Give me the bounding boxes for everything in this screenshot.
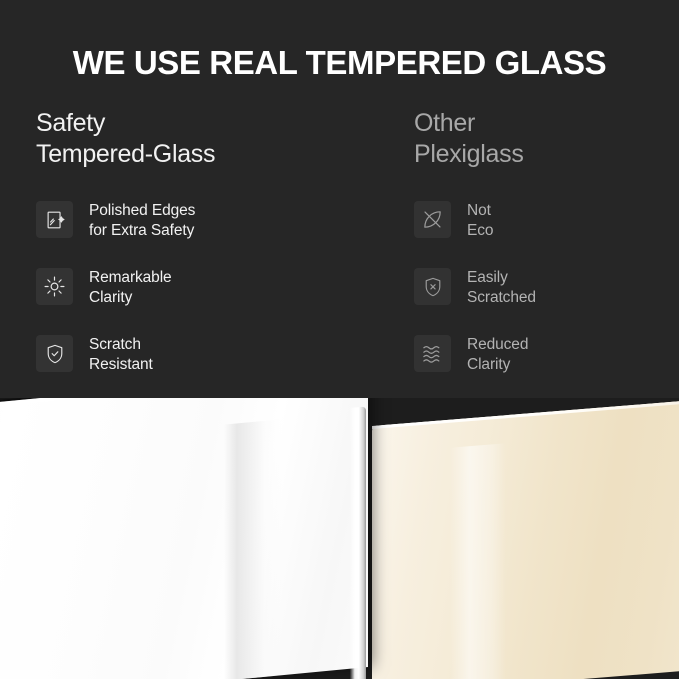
tempered-glass-infographic: WE USE REAL TEMPERED GLASS Safety Temper… (0, 0, 679, 679)
tempered-glass-panel (0, 398, 368, 679)
feature-label: Not Eco (467, 199, 493, 240)
glass-polished-edge (350, 406, 366, 679)
crossed-out-leaf-icon (414, 201, 451, 238)
product-photo (0, 398, 679, 679)
feature-row: Not Eco (414, 199, 679, 266)
wavy-distortion-icon (414, 335, 451, 372)
polished-glass-pane-icon (36, 201, 73, 238)
shield-check-icon (36, 335, 73, 372)
feature-row: Easily Scratched (414, 266, 679, 333)
feature-label: Remarkable Clarity (89, 266, 172, 307)
feature-label: Reduced Clarity (467, 333, 528, 374)
feature-row: Reduced Clarity (414, 333, 679, 400)
feature-list-plexiglass: Not Eco Easily Scratched (414, 199, 679, 400)
column-tempered-glass: Safety Tempered-Glass Polished Edges for… (36, 108, 356, 400)
shield-x-icon (414, 268, 451, 305)
column-title-tempered-glass: Safety Tempered-Glass (36, 108, 356, 170)
column-plexiglass: Other Plexiglass Not Eco (414, 108, 679, 400)
feature-list-tempered-glass: Polished Edges for Extra Safety Remarkab… (36, 199, 356, 400)
plexiglass-panel (372, 399, 679, 679)
feature-row: Remarkable Clarity (36, 266, 356, 333)
feature-label: Easily Scratched (467, 266, 536, 307)
feature-row: Scratch Resistant (36, 333, 356, 400)
feature-label: Polished Edges for Extra Safety (89, 199, 195, 240)
feature-row: Polished Edges for Extra Safety (36, 199, 356, 266)
comparison-columns: Safety Tempered-Glass Polished Edges for… (0, 108, 679, 398)
column-title-plexiglass: Other Plexiglass (414, 108, 679, 170)
page-title: WE USE REAL TEMPERED GLASS (0, 44, 679, 82)
feature-label: Scratch Resistant (89, 333, 153, 374)
sun-brightness-icon (36, 268, 73, 305)
